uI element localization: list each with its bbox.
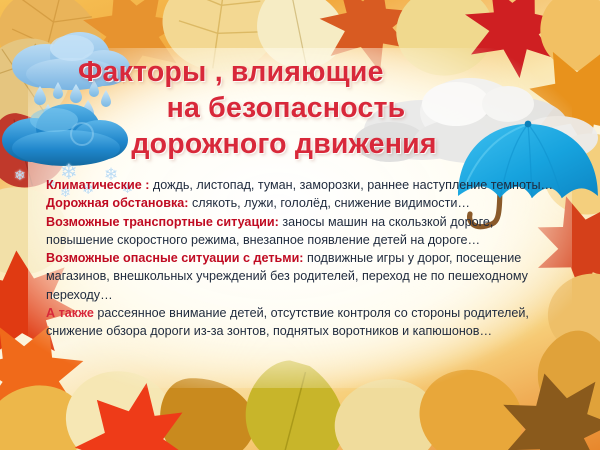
poster-canvas: ❄ ❄ ❄ ❄ ❄ ❄ ❄ Факторы , влияющие на безо…: [0, 0, 600, 450]
snowflake-icon: ❄: [14, 168, 26, 182]
title-line-2: на безопасность: [60, 90, 490, 126]
factor-keyword: Климатические :: [46, 178, 149, 192]
factor-text: слякоть, лужи, гололёд, снижение видимос…: [188, 196, 470, 210]
factor-keyword: Возможные транспортные ситуации:: [46, 215, 279, 229]
title-line-1: Факторы , влияющие: [60, 54, 490, 90]
factor-keyword: Дорожная обстановка:: [46, 196, 188, 210]
page-title: Факторы , влияющие на безопасность дорож…: [60, 54, 490, 162]
factor-item: Возможные опасные ситуации с детьми: под…: [46, 249, 562, 304]
factors-list: Климатические : дождь, листопад, туман, …: [46, 176, 562, 341]
factor-item: Возможные транспортные ситуации: заносы …: [46, 213, 562, 250]
factor-item: Климатические : дождь, листопад, туман, …: [46, 176, 562, 194]
factor-item: А также рассеянное внимание детей, отсут…: [46, 304, 562, 341]
factor-text: дождь, листопад, туман, заморозки, ранне…: [149, 178, 553, 192]
factor-text: рассеянное внимание детей, отсутствие ко…: [46, 306, 529, 338]
factor-keyword: Возможные опасные ситуации с детьми:: [46, 251, 304, 265]
title-line-3: дорожного движения: [60, 126, 490, 162]
factor-item: Дорожная обстановка: слякоть, лужи, голо…: [46, 194, 562, 212]
factor-keyword: А также: [46, 306, 94, 320]
